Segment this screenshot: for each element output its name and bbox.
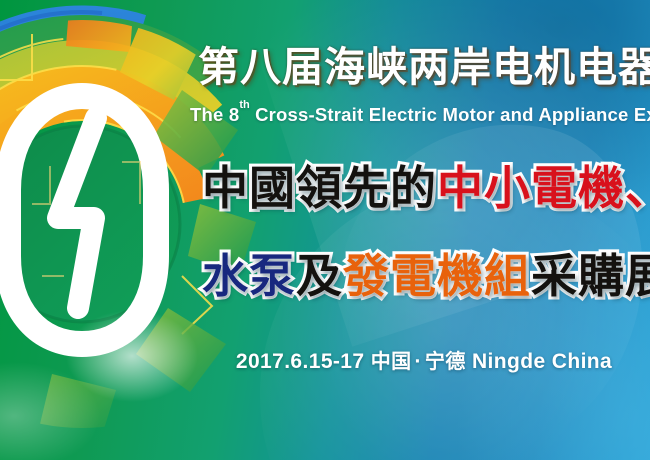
poster-text-block: 第八届海峡两岸电机电器博览会 The 8th Cross-Strait Elec… (190, 0, 650, 460)
headline-segment-orange: 發電機組 (343, 249, 531, 303)
exposition-poster: 第八届海峡两岸电机电器博览会 The 8th Cross-Strait Elec… (0, 0, 650, 460)
headline-segment-blue: 水泵 (202, 249, 296, 303)
subtitle-english: The 8th Cross-Strait Electric Motor and … (190, 104, 650, 126)
headline-line-2: 水泵及發電機組采購展 (202, 240, 650, 306)
city-name-en: Ningde China (472, 350, 612, 373)
headline-segment-black-2: 及 (296, 249, 343, 303)
city-name-cn: 宁德 (425, 349, 466, 373)
subtitle-rest: Cross-Strait Electric Motor and Applianc… (255, 104, 650, 125)
country-name: 中国 (371, 349, 412, 373)
headline-segment-black-1: 中國領先的 (202, 161, 437, 215)
headline-line-1: 中國領先的中小電機、 (202, 152, 650, 218)
event-date-location: 2017.6.15-17 中国·宁德 Ningde China (190, 345, 650, 374)
location-separator: · (415, 350, 422, 373)
subtitle-prefix: The 8 (190, 104, 239, 125)
page-title: 第八届海峡两岸电机电器博览会 (198, 33, 650, 93)
headline-segment-red: 中小電機、 (437, 161, 650, 215)
event-date: 2017.6.15-17 (236, 350, 365, 373)
headline-segment-black-3: 采購展 (531, 249, 650, 303)
subtitle-ordinal-suffix: th (239, 99, 249, 111)
